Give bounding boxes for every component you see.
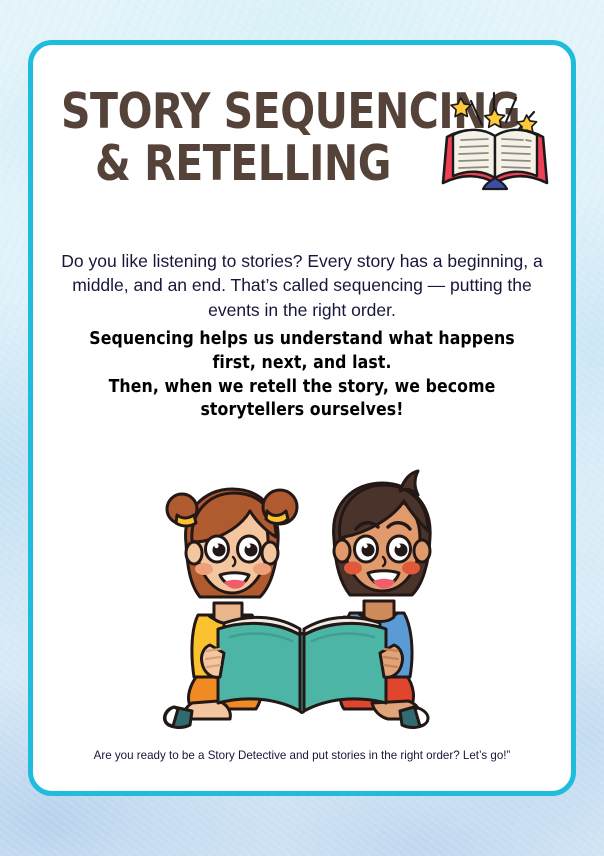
intro-paragraph: Do you like listening to stories? Every … bbox=[59, 249, 545, 324]
page-title-line-2: & RETELLING bbox=[95, 139, 391, 188]
footer-prompt: Are you ready to be a Story Detective an… bbox=[57, 748, 547, 763]
poster-page: STORY SEQUENCING & RETELLING bbox=[0, 0, 604, 856]
highlight-line-3: Then, when we retell the story, we becom… bbox=[59, 376, 545, 400]
highlight-block: Sequencing helps us understand what happ… bbox=[59, 328, 545, 423]
worksheet-card: STORY SEQUENCING & RETELLING bbox=[28, 40, 576, 796]
two-children-reading-book-illustration bbox=[152, 445, 452, 741]
highlight-line-1: Sequencing helps us understand what happ… bbox=[59, 328, 545, 352]
open-book-sparkles-icon bbox=[437, 79, 557, 199]
highlight-line-2: first, next, and last. bbox=[59, 352, 545, 376]
highlight-line-4: storytellers ourselves! bbox=[59, 399, 545, 423]
title-block: STORY SEQUENCING & RETELLING bbox=[33, 87, 571, 202]
